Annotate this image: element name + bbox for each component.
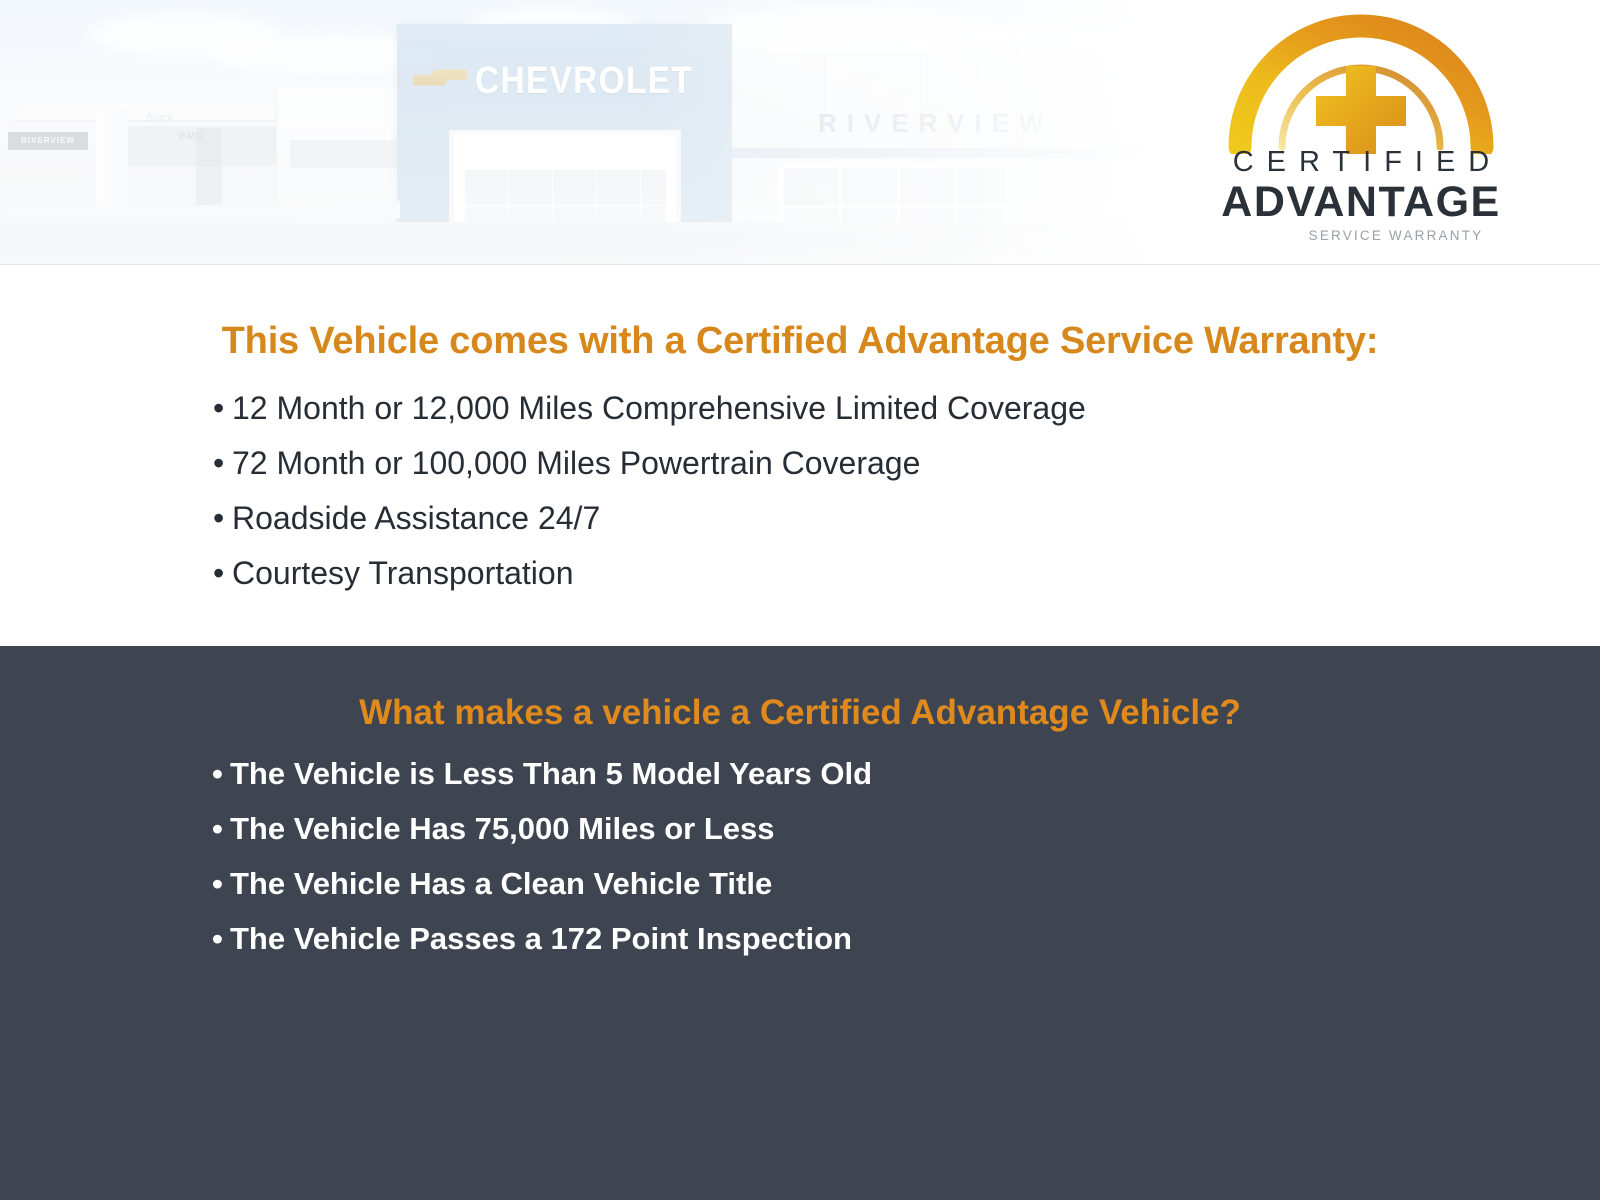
riverview-small-sign: RIVERVIEW (8, 132, 88, 150)
list-item-label: The Vehicle Has a Clean Vehicle Title (230, 866, 772, 901)
warranty-section: This Vehicle comes with a Certified Adva… (0, 265, 1600, 646)
logo-arc-svg (1196, 14, 1526, 154)
list-item-label: Roadside Assistance 24/7 (232, 500, 600, 536)
qualifications-list: •The Vehicle is Less Than 5 Model Years … (212, 758, 872, 978)
buick-sign: Buick (146, 112, 173, 124)
dealership-banner: RIVERVIEW Buick GMC RIVERVIEW CHEVROLET (0, 0, 1600, 265)
logo-line-certified: CERTIFIED (1196, 148, 1526, 177)
warranty-list: •12 Month or 12,000 Miles Comprehensive … (213, 392, 1086, 612)
bullet-icon: • (212, 813, 230, 844)
list-item-label: The Vehicle Passes a 172 Point Inspectio… (230, 921, 852, 956)
chevrolet-sign: CHEVROLET (475, 60, 693, 103)
list-item-label: Courtesy Transportation (232, 555, 574, 591)
list-item: •Courtesy Transportation (213, 557, 1086, 589)
certified-advantage-logo: CERTIFIED ADVANTAGE SERVICE WARRANTY (1196, 14, 1526, 246)
list-item-label: The Vehicle Has 75,000 Miles or Less (230, 811, 775, 846)
pavement (0, 222, 1150, 265)
gmc-sign: GMC (178, 131, 204, 142)
list-item: •The Vehicle Has a Clean Vehicle Title (212, 868, 872, 899)
list-item: •12 Month or 12,000 Miles Comprehensive … (213, 392, 1086, 424)
bullet-icon: • (212, 923, 230, 954)
logo-line-service-warranty: SERVICE WARRANTY (1196, 228, 1526, 243)
logo-line-advantage: ADVANTAGE (1196, 179, 1526, 225)
riverview-sign: RIVERVIEW (818, 108, 1053, 139)
list-item-label: 12 Month or 12,000 Miles Comprehensive L… (232, 390, 1086, 426)
dealership-photo: RIVERVIEW Buick GMC RIVERVIEW CHEVROLET (0, 0, 1150, 265)
bullet-icon: • (212, 868, 230, 899)
certified-advantage-flyer: RIVERVIEW Buick GMC RIVERVIEW CHEVROLET (0, 0, 1600, 1200)
bullet-icon: • (212, 758, 230, 789)
list-item-label: 72 Month or 100,000 Miles Powertrain Cov… (232, 445, 920, 481)
arc-plus-certified-icon (1196, 14, 1526, 154)
bullet-icon: • (213, 447, 232, 479)
chevrolet-bowtie-icon (413, 68, 467, 87)
riverview-accent-band (728, 148, 1150, 158)
list-item: •The Vehicle is Less Than 5 Model Years … (212, 758, 872, 789)
bullet-icon: • (213, 557, 232, 589)
bullet-icon: • (213, 502, 232, 534)
list-item: •72 Month or 100,000 Miles Powertrain Co… (213, 447, 1086, 479)
bullet-icon: • (213, 392, 232, 424)
list-item-label: The Vehicle is Less Than 5 Model Years O… (230, 756, 872, 791)
list-item: •The Vehicle Passes a 172 Point Inspecti… (212, 923, 872, 954)
logo-wordmark: CERTIFIED ADVANTAGE SERVICE WARRANTY (1196, 148, 1526, 243)
qualifications-headline: What makes a vehicle a Certified Advanta… (0, 693, 1600, 733)
warranty-headline: This Vehicle comes with a Certified Adva… (0, 320, 1600, 363)
list-item: •The Vehicle Has 75,000 Miles or Less (212, 813, 872, 844)
list-item: •Roadside Assistance 24/7 (213, 502, 1086, 534)
qualifications-section: What makes a vehicle a Certified Advanta… (0, 646, 1600, 1200)
